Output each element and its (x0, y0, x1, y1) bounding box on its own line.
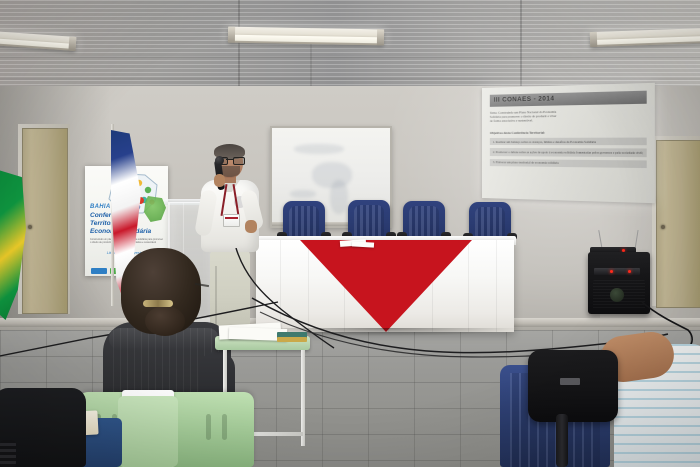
monitor-label (560, 378, 580, 385)
projection-screen: III CONAES - 2014 Tema: Construindo um P… (482, 83, 655, 203)
ceiling-light (228, 27, 384, 46)
slide-title: III CONAES - 2014 (494, 93, 642, 105)
photo-scene: III CONAES - 2014 Tema: Construindo um P… (0, 0, 700, 467)
microphone-head (215, 156, 224, 165)
paper-on-table (352, 241, 374, 247)
amplifier-badge (610, 288, 624, 302)
monitor-stand (556, 414, 568, 467)
slide-theme-line-3: de forma associativa e sustentável. (490, 117, 647, 123)
slide-title-bar: III CONAES - 2014 (490, 91, 647, 107)
ceiling-seam (0, 78, 700, 80)
slide-bullet: 3. Elaborar um plano territorial de econ… (490, 159, 647, 168)
desk-book (277, 337, 307, 342)
door-left[interactable] (22, 128, 68, 314)
presenter-hand-right (245, 220, 257, 233)
slide-bullet: 2. Promover o debate sobre as ações de a… (490, 148, 647, 156)
name-badge (223, 214, 240, 227)
presenter-hand-left (214, 174, 225, 187)
ceiling-seam (0, 56, 700, 58)
slide-objectives-header: Objetivos desta Conferência Territorial: (490, 130, 647, 135)
amplifier-controls[interactable] (594, 268, 640, 275)
door-right[interactable] (656, 140, 700, 308)
slide-theme: Tema: Construindo um Plano Nacional da E… (490, 108, 647, 123)
brazil-flag (0, 168, 26, 320)
slide-bullet: 1. Realizar um balanço sobre os avanços,… (490, 138, 647, 146)
monitor-back (528, 350, 618, 422)
slide-content: III CONAES - 2014 Tema: Construindo um P… (490, 91, 647, 197)
green-chair-secondary[interactable] (118, 396, 178, 467)
woman-hair-bun (145, 306, 185, 336)
hair-clip (143, 300, 173, 307)
chair-stem (0, 440, 16, 467)
flag-cloth (0, 168, 26, 320)
